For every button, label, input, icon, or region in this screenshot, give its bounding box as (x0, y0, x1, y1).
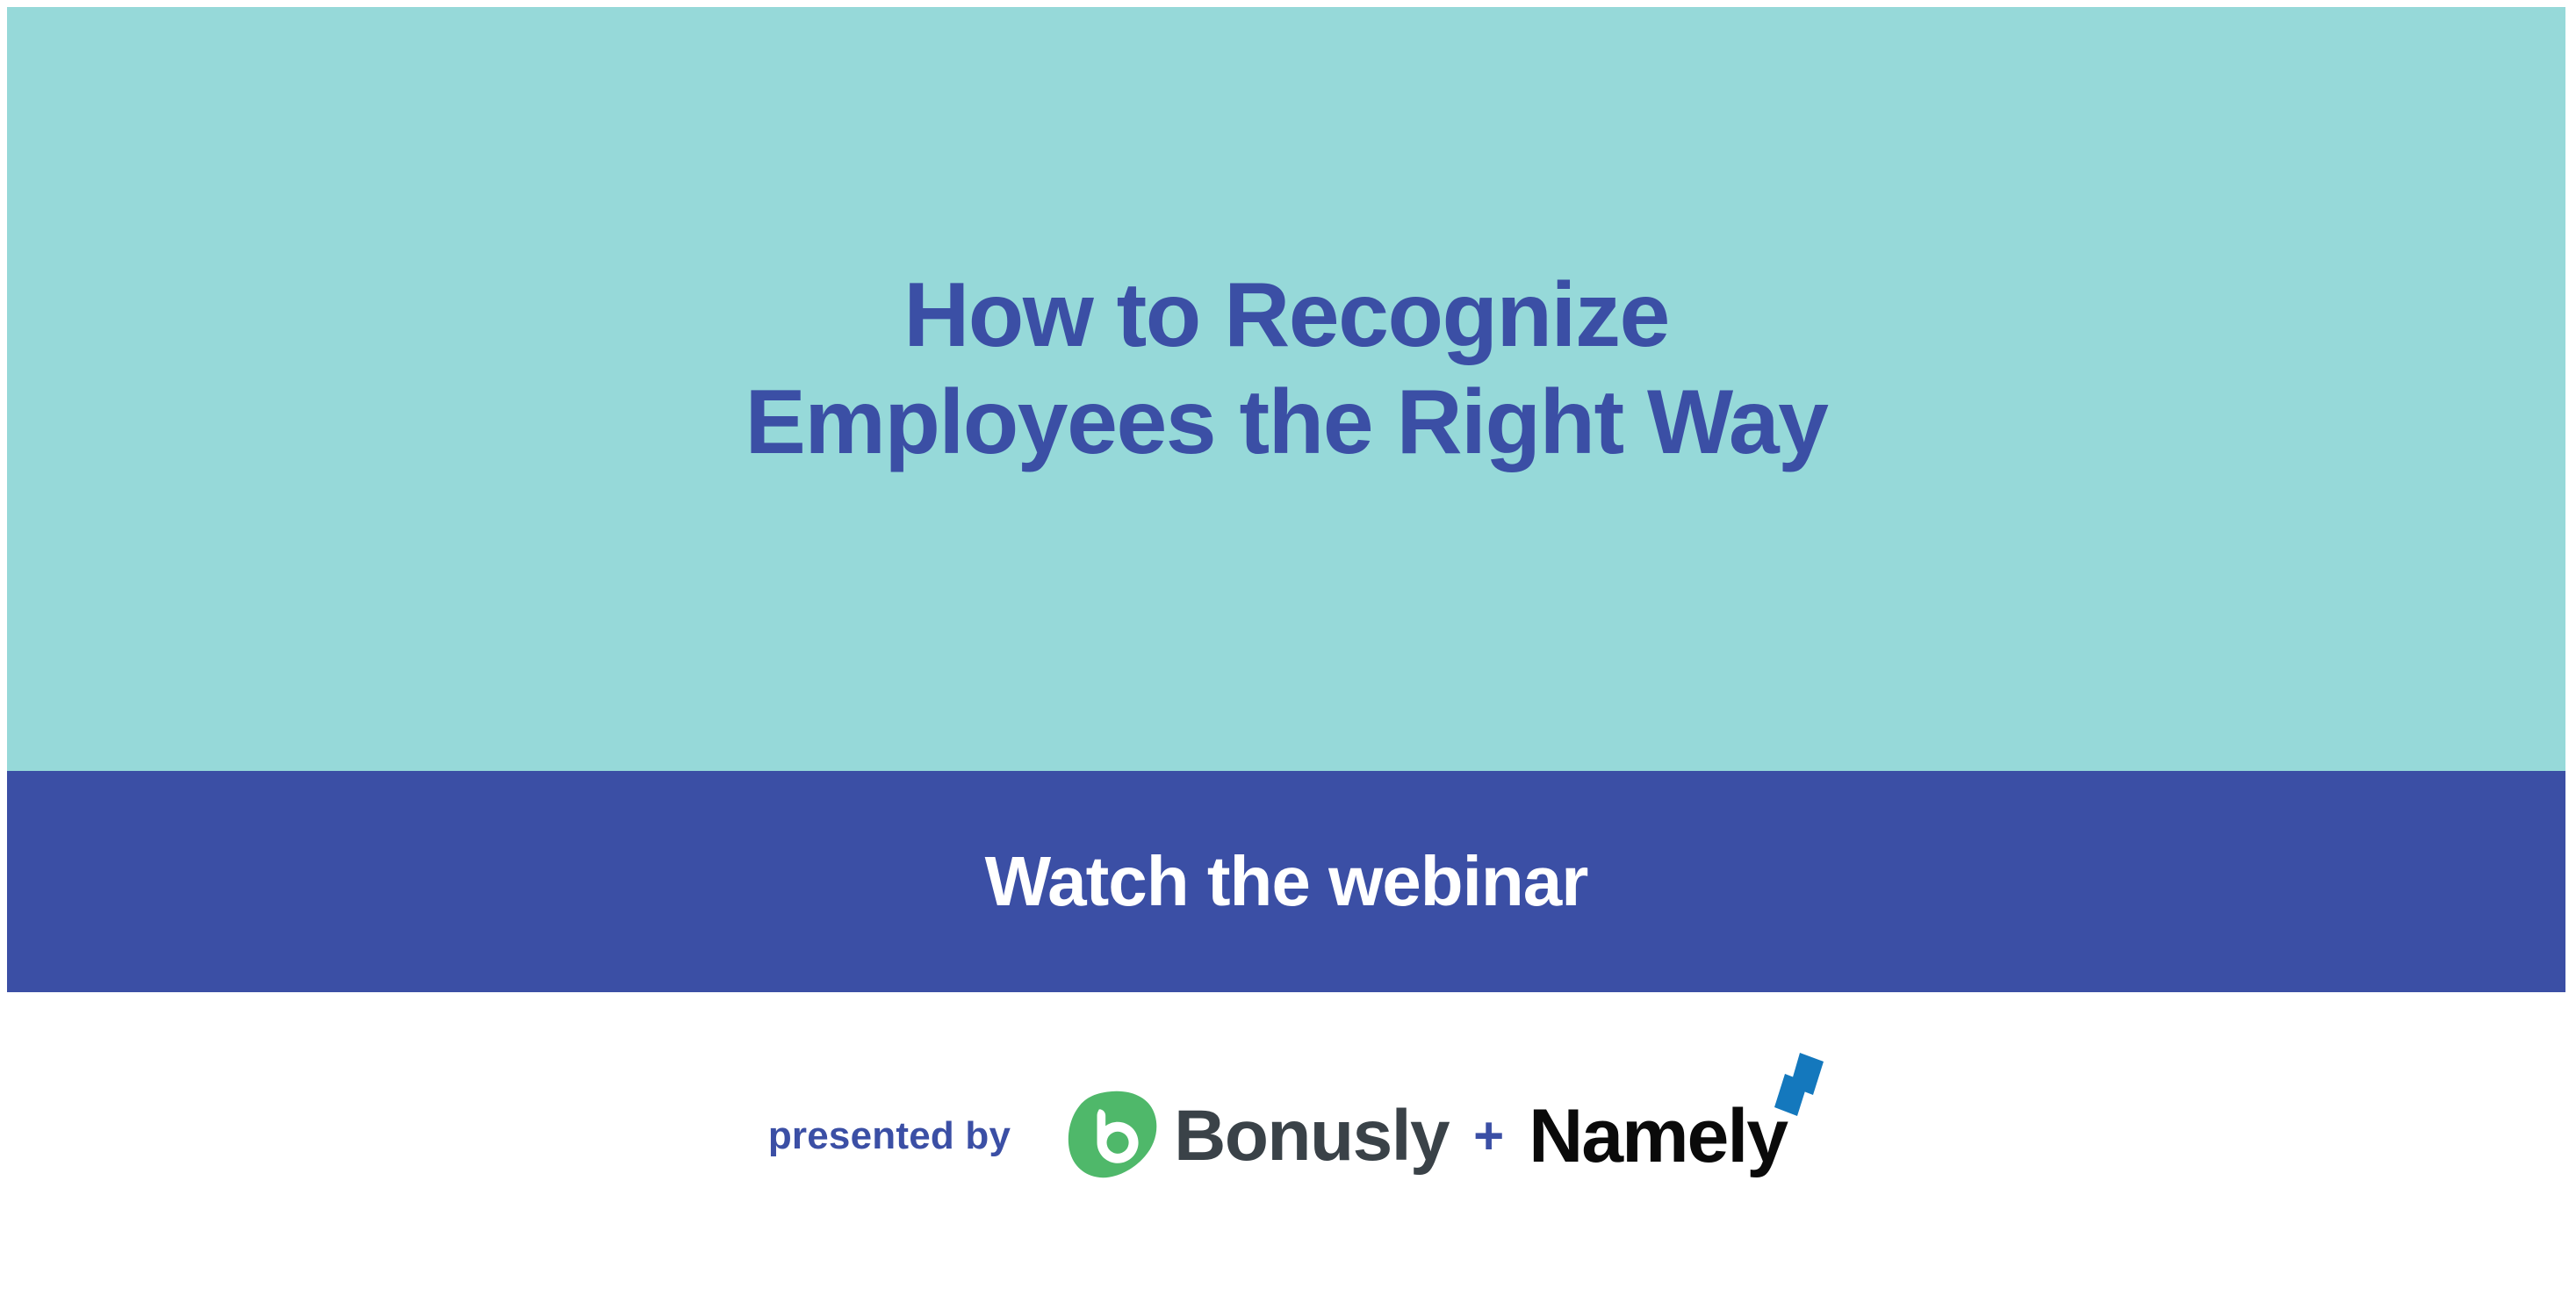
namely-flag-mark-icon (1773, 1051, 1827, 1125)
footer-section: presented by Bonusly + Namely (7, 992, 2565, 1289)
bonusly-b-mark-icon (1063, 1087, 1162, 1185)
namely-wordmark: Namely (1529, 1098, 1787, 1174)
hero-section: How to Recognize Employees the Right Way (7, 7, 2565, 771)
watch-webinar-label: Watch the webinar (985, 846, 1588, 917)
bonusly-wordmark: Bonusly (1174, 1100, 1449, 1172)
bonusly-logo[interactable]: Bonusly (1063, 1087, 1449, 1185)
namely-logo[interactable]: Namely (1529, 1098, 1787, 1174)
brand-separator-plus: + (1473, 1110, 1504, 1163)
presented-by-label: presented by (768, 1117, 1011, 1156)
page-title: How to Recognize Employees the Right Way (622, 263, 1951, 476)
presenter-lockup: presented by Bonusly + Namely (768, 1087, 1787, 1185)
webinar-promo-banner: How to Recognize Employees the Right Way… (0, 0, 2576, 1296)
watch-webinar-cta-band[interactable]: Watch the webinar (7, 771, 2565, 992)
